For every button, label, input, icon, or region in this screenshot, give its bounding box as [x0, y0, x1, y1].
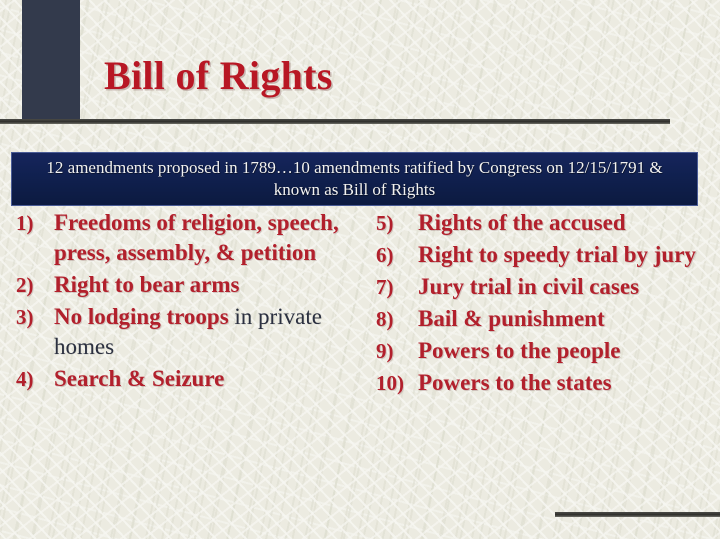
list-item-number: 8): [376, 304, 418, 334]
list-item-text: Rights of the accused: [418, 208, 720, 238]
list-item-text: Jury trial in civil cases: [418, 272, 720, 302]
list-item-text-emphasis: No lodging troops: [54, 304, 229, 329]
list-item: 9) Powers to the people: [376, 336, 720, 366]
list-item-text-emphasis: Right to speedy trial by jury: [418, 242, 696, 267]
list-item-number: 2): [16, 270, 54, 300]
list-item-number: 6): [376, 240, 418, 270]
list-item-number: 10): [376, 368, 418, 398]
list-item-text: Powers to the states: [418, 368, 720, 398]
list-item-text: Search & Seizure: [54, 364, 366, 394]
list-item-number: 9): [376, 336, 418, 366]
list-item-number: 4): [16, 364, 54, 394]
list-item: 10) Powers to the states: [376, 368, 720, 398]
list-item-text-emphasis: Right to bear arms: [54, 272, 239, 297]
list-item-text-emphasis: Search & Seizure: [54, 366, 224, 391]
list-item-text-emphasis: Rights of the accused: [418, 210, 626, 235]
list-item-text: Freedoms of religion, speech, press, ass…: [54, 208, 366, 268]
list-item-number: 1): [16, 208, 54, 238]
list-item: 4) Search & Seizure: [16, 364, 366, 394]
list-item-number: 5): [376, 208, 418, 238]
list-item-text-emphasis: Jury trial in civil cases: [418, 274, 639, 299]
list-item-text: Powers to the people: [418, 336, 720, 366]
header-horizontal-rule: [0, 119, 670, 124]
amendments-left-column: 1) Freedoms of religion, speech, press, …: [0, 208, 366, 400]
amendments-columns: 1) Freedoms of religion, speech, press, …: [0, 208, 720, 400]
list-item-number: 7): [376, 272, 418, 302]
list-item-text-emphasis: Powers to the people: [418, 338, 621, 363]
list-item: 2) Right to bear arms: [16, 270, 366, 300]
footer-horizontal-rule: [555, 512, 720, 517]
list-item-text-emphasis: Powers to the states: [418, 370, 612, 395]
header-accent-bar: [22, 0, 80, 124]
list-item: 6) Right to speedy trial by jury: [376, 240, 720, 270]
list-item-text: Right to speedy trial by jury: [418, 240, 720, 270]
list-item-text: Right to bear arms: [54, 270, 366, 300]
list-item: 8) Bail & punishment: [376, 304, 720, 334]
list-item-text: No lodging troops in private homes: [54, 302, 366, 362]
list-item: 1) Freedoms of religion, speech, press, …: [16, 208, 366, 268]
list-item-text: Bail & punishment: [418, 304, 720, 334]
amendments-right-column: 5) Rights of the accused 6) Right to spe…: [366, 208, 720, 400]
summary-banner: 12 amendments proposed in 1789…10 amendm…: [11, 152, 698, 206]
list-item: 3) No lodging troops in private homes: [16, 302, 366, 362]
list-item-number: 3): [16, 302, 54, 332]
list-item-text-emphasis: Bail & punishment: [418, 306, 605, 331]
page-title: Bill of Rights: [104, 52, 333, 99]
list-item: 7) Jury trial in civil cases: [376, 272, 720, 302]
list-item-text-emphasis: Freedoms of religion, speech, press, ass…: [54, 210, 339, 265]
summary-banner-text: 12 amendments proposed in 1789…10 amendm…: [22, 157, 687, 201]
slide-canvas: Bill of Rights 12 amendments proposed in…: [0, 0, 720, 539]
list-item: 5) Rights of the accused: [376, 208, 720, 238]
